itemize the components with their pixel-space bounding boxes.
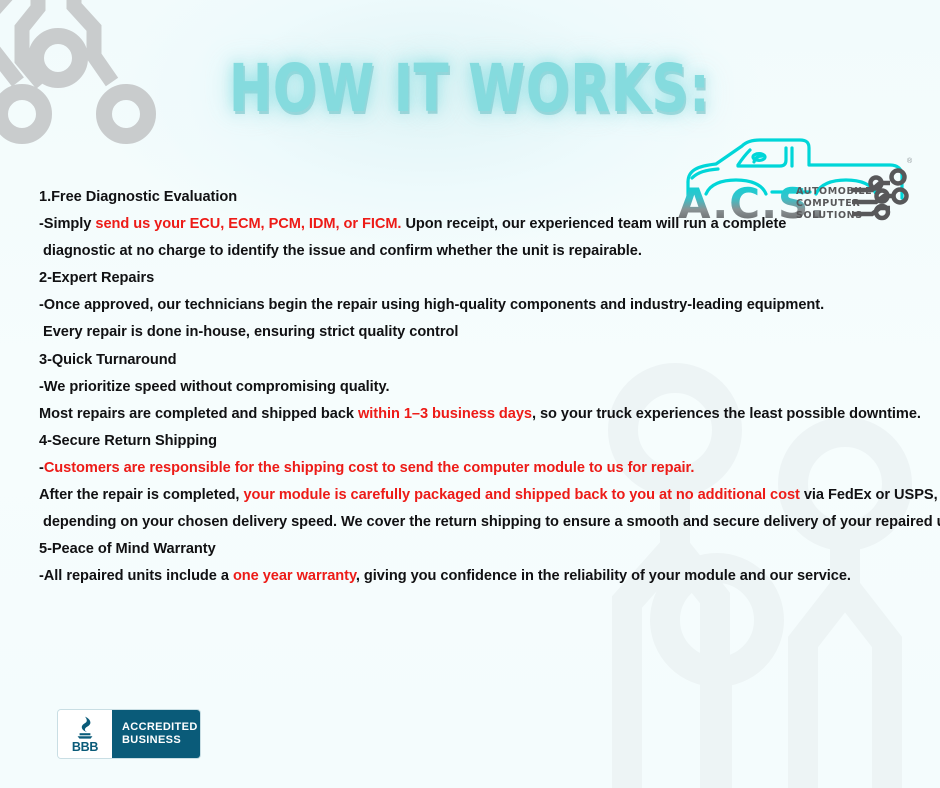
circuit-pattern-top-left — [0, 0, 192, 186]
body-text: -All repaired units include a — [39, 568, 233, 584]
bbb-logo-text: BBB — [72, 741, 98, 754]
highlighted-text: within 1–3 business days — [358, 406, 532, 422]
step-heading: 5-Peace of Mind Warranty — [39, 536, 909, 563]
step-body-line: Every repair is done in-house, ensuring … — [39, 319, 909, 346]
step-body-line: Most repairs are completed and shipped b… — [39, 401, 909, 428]
bbb-badge-text: ACCREDITED BUSINESS ® — [112, 710, 200, 758]
bbb-torch-icon — [75, 716, 95, 740]
step-body-line: -Simply send us your ECU, ECM, PCM, IDM,… — [39, 211, 909, 238]
highlighted-text: your module is carefully packaged and sh… — [243, 487, 799, 503]
body-text: Most repairs are completed and shipped b… — [39, 406, 358, 422]
step-body-line: -Customers are responsible for the shipp… — [39, 455, 909, 482]
page-title-wrapper: HOW IT WORKS: — [0, 52, 940, 126]
step-body-line: After the repair is completed, your modu… — [39, 482, 909, 509]
body-text: , so your truck experiences the least po… — [532, 406, 921, 422]
step-body-line: -We prioritize speed without compromisin… — [39, 374, 909, 401]
body-text: -Once approved, our technicians begin th… — [39, 297, 824, 313]
step-body-line: diagnostic at no charge to identify the … — [39, 238, 909, 265]
step-body-line: -Once approved, our technicians begin th… — [39, 292, 909, 319]
step-heading: 2-Expert Repairs — [39, 265, 909, 292]
highlighted-text: send us your ECU, ECM, PCM, IDM, or FICM… — [95, 216, 401, 232]
svg-text:®: ® — [907, 157, 913, 165]
step-body-line: depending on your chosen delivery speed.… — [39, 509, 909, 536]
body-text: Every repair is done in-house, ensuring … — [39, 324, 458, 340]
highlighted-text: Customers are responsible for the shippi… — [44, 460, 695, 476]
page-title: HOW IT WORKS: — [229, 52, 711, 126]
body-text: -We prioritize speed without compromisin… — [39, 379, 389, 395]
bbb-logo: BBB — [58, 710, 112, 758]
body-text: After the repair is completed, — [39, 487, 243, 503]
bbb-accredited-business-badge[interactable]: BBB ACCREDITED BUSINESS ® — [58, 710, 200, 758]
bbb-accredited-label: ACCREDITED — [122, 721, 200, 735]
step-body-line: -All repaired units include a one year w… — [39, 563, 909, 590]
steps-content: 1.Free Diagnostic Evaluation-Simply send… — [39, 184, 909, 590]
step-heading: 4-Secure Return Shipping — [39, 428, 909, 455]
body-text: diagnostic at no charge to identify the … — [39, 243, 642, 259]
how-it-works-page: HOW IT WORKS: — [0, 0, 940, 788]
body-text: depending on your chosen delivery speed.… — [39, 514, 940, 530]
body-text: Upon receipt, our experienced team will … — [401, 216, 786, 232]
step-heading: 1.Free Diagnostic Evaluation — [39, 184, 909, 211]
bbb-business-label: BUSINESS — [122, 734, 200, 748]
highlighted-text: one year warranty — [233, 568, 356, 584]
step-heading: 3-Quick Turnaround — [39, 347, 909, 374]
body-text: via FedEx or USPS, — [800, 487, 938, 503]
body-text: , giving you confidence in the reliabili… — [356, 568, 851, 584]
body-text: -Simply — [39, 216, 95, 232]
